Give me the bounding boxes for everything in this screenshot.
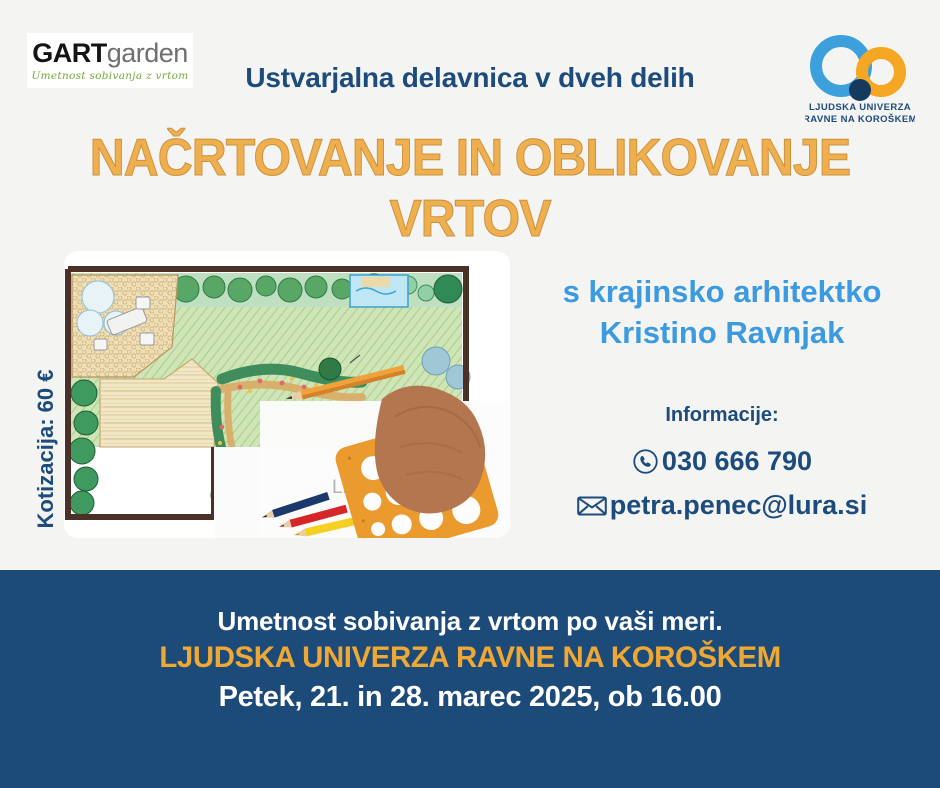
garden-plan-photo: Living xyxy=(64,251,510,538)
footer-venue: LJUDSKA UNIVERZA RAVNE NA KOROŠKEM xyxy=(159,641,781,675)
poster-title-line2: VRTOV xyxy=(33,189,907,250)
footer-datetime: Petek, 21. in 28. marec 2025, ob 16.00 xyxy=(219,681,722,714)
poster-kicker: Ustvarjalna delavnica v dveh delih xyxy=(0,62,940,94)
speaker-name: Kristino Ravnjak xyxy=(512,313,932,354)
speaker-role: s krajinsko arhitektko xyxy=(512,272,932,313)
contact-phone-row[interactable]: 030 666 790 xyxy=(512,446,932,477)
information-label: Informacije: xyxy=(512,404,932,427)
lu-logo-line1: LJUDSKA UNIVERZA xyxy=(809,102,911,113)
speaker-block: s krajinsko arhitektko Kristino Ravnjak xyxy=(512,272,932,354)
phone-circle-icon xyxy=(632,448,659,475)
lu-logo-line2: RAVNE NA KOROŠKEM xyxy=(805,113,915,125)
footer-tagline: Umetnost sobivanja z vrtom po vaši meri. xyxy=(218,606,723,637)
poster-title-line1: NAČRTOVANJE IN OBLIKOVANJE xyxy=(33,128,907,189)
contact-email-row[interactable]: petra.penec@lura.si xyxy=(512,490,932,521)
event-poster: GARTgarden Umetnost sobivanja z vrtom LJ… xyxy=(0,0,940,788)
price-label: Kotizacija: 60 € xyxy=(33,339,59,559)
contact-email-address: petra.penec@lura.si xyxy=(610,490,867,521)
poster-footer: Umetnost sobivanja z vrtom po vaši meri.… xyxy=(0,570,940,788)
poster-title: NAČRTOVANJE IN OBLIKOVANJE VRTOV xyxy=(33,128,907,251)
envelope-icon xyxy=(577,494,607,518)
contact-phone-number: 030 666 790 xyxy=(662,446,812,477)
